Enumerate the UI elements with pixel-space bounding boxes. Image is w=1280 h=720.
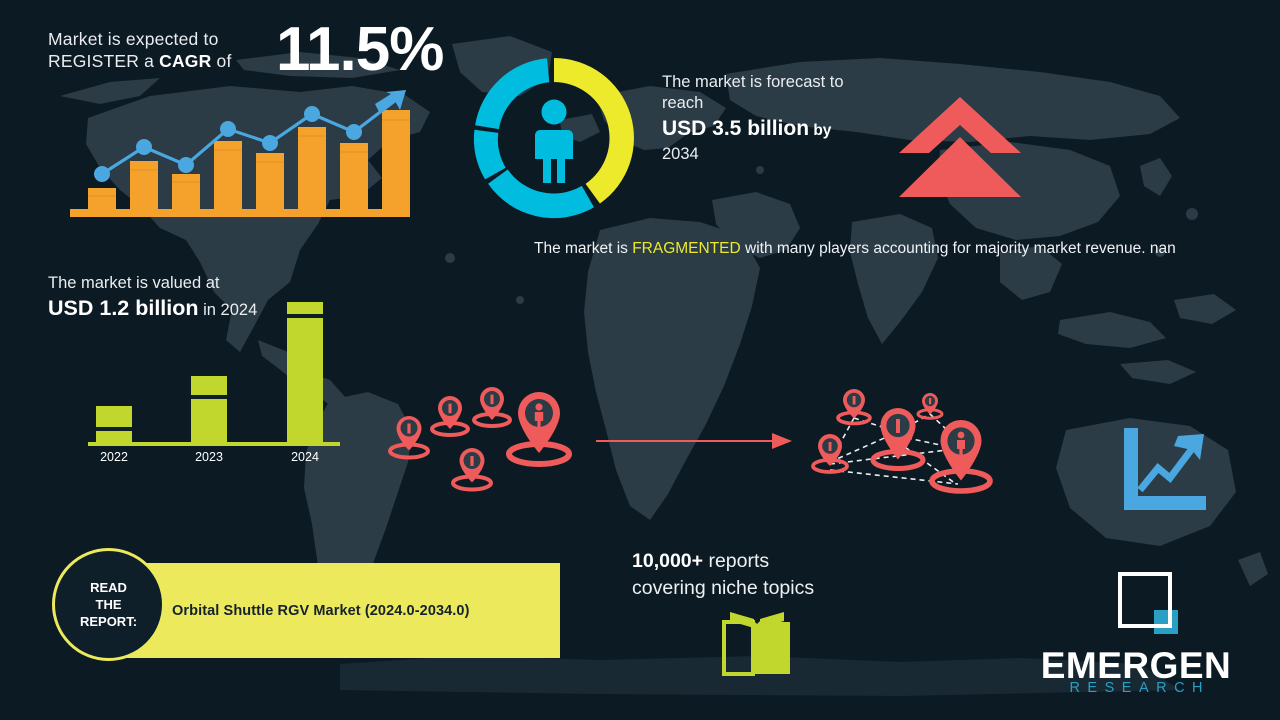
forecast-amount-row: USD 3.5 billion by <box>662 116 892 144</box>
open-book-icon <box>720 610 794 676</box>
axis-label-2024: 2024 <box>275 450 335 464</box>
trend-arrow-head <box>375 90 406 112</box>
axis-label-2023: 2023 <box>179 450 239 464</box>
cagr-block: Market is expected to REGISTER a CAGR of… <box>48 20 428 72</box>
bar <box>256 153 284 209</box>
logo-subtitle: RESEARCH <box>1016 680 1256 696</box>
bar <box>298 127 326 209</box>
fragmented-highlight: FRAGMENTED <box>632 240 741 257</box>
read-label-line3: REPORT: <box>80 613 137 630</box>
donut-segment-cyan-2 <box>474 130 506 180</box>
bar <box>340 143 368 209</box>
forecast-year: 2034 <box>662 144 892 164</box>
chevron-up-icon <box>895 95 1025 200</box>
trend-point <box>94 166 110 182</box>
read-the-report-badge[interactable]: READ THE REPORT: <box>52 548 165 661</box>
person-icon <box>535 100 573 184</box>
map-pin-person-icon <box>873 408 923 469</box>
reports-line2: covering niche topics <box>632 577 814 599</box>
trend-point <box>346 124 362 140</box>
bar <box>88 188 116 209</box>
map-pin-person-icon <box>932 420 990 491</box>
chart-baseline <box>88 442 340 446</box>
market-share-donut-chart <box>468 52 640 224</box>
map-pin-person-icon <box>838 389 870 424</box>
arrow-right-icon <box>596 430 792 452</box>
growth-chart-icon <box>1118 424 1210 514</box>
donut-segment-cyan-3 <box>475 58 549 129</box>
cagr-label: Market is expected to REGISTER a CAGR of <box>48 20 263 72</box>
scattered-map-pins <box>382 386 582 496</box>
donut-segment-cyan-1 <box>488 170 594 219</box>
trend-point <box>136 139 152 155</box>
map-pin-person-icon <box>918 393 942 418</box>
cagr-line2-post: of <box>211 51 231 71</box>
bar <box>172 174 200 209</box>
fragmented-post: with many players accounting for majorit… <box>741 240 1176 257</box>
map-pin-person-icon <box>813 434 847 472</box>
cagr-line2-pre: REGISTER a <box>48 51 159 71</box>
fragmented-pre: The market is <box>534 240 632 257</box>
map-pin-person-icon <box>432 396 468 435</box>
valued-line1: The market is valued at <box>48 272 348 294</box>
reports-line1-rest: reports <box>703 550 769 572</box>
cagr-value: 11.5% <box>276 14 443 86</box>
forecast-amount: USD 3.5 billion <box>662 117 809 140</box>
bar <box>214 141 242 209</box>
read-label-line1: READ <box>90 579 127 596</box>
map-pin-person-icon <box>453 448 491 490</box>
bar-2023 <box>191 376 227 444</box>
chart-baseline <box>70 209 410 217</box>
logo-square-icon <box>1118 572 1178 634</box>
trend-point <box>304 106 320 122</box>
bar <box>130 161 158 209</box>
reports-count-block: 10,000+ reports covering niche topics <box>632 548 892 602</box>
trend-point <box>262 135 278 151</box>
reports-count: 10,000+ <box>632 550 703 572</box>
map-pin-person-icon <box>474 387 510 426</box>
bar-2024 <box>287 302 323 444</box>
cagr-line2-bold: CAGR <box>159 51 211 71</box>
report-banner[interactable]: Orbital Shuttle RGV Market (2024.0-2034.… <box>106 563 560 658</box>
trend-point <box>220 121 236 137</box>
forecast-by: by <box>809 122 831 139</box>
fragmented-statement: The market is FRAGMENTED with many playe… <box>534 238 1206 260</box>
forecast-block: The market is forecast to reach USD 3.5 … <box>662 72 892 164</box>
axis-label-2022: 2022 <box>84 450 144 464</box>
market-growth-bar-chart <box>70 88 410 218</box>
report-title: Orbital Shuttle RGV Market (2024.0-2034.… <box>172 563 470 658</box>
cagr-line1: Market is expected to <box>48 29 219 49</box>
map-pin-person-icon <box>509 392 569 464</box>
infographic-canvas: Market is expected to REGISTER a CAGR of… <box>0 0 1280 720</box>
market-value-bar-chart: 2022 2023 2024 <box>60 296 340 471</box>
trend-point <box>178 157 194 173</box>
forecast-line1: The market is forecast to <box>662 72 892 93</box>
bar <box>382 110 410 209</box>
networked-map-pins <box>806 384 1016 502</box>
map-pin-person-icon <box>390 416 428 458</box>
forecast-line2: reach <box>662 93 892 114</box>
read-label-line2: THE <box>96 596 122 613</box>
bar-2022 <box>96 406 132 444</box>
